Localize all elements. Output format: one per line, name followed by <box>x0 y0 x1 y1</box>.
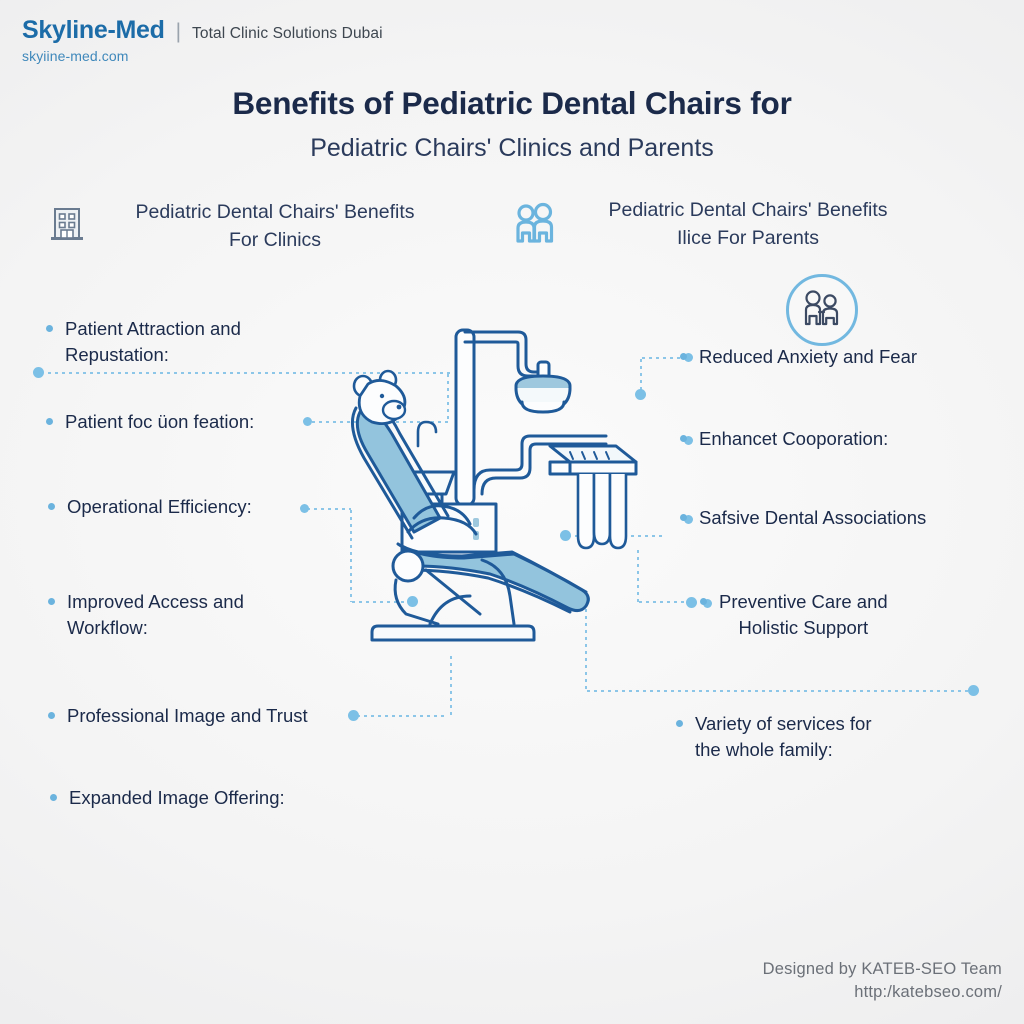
bullet-dot-icon <box>46 325 53 332</box>
page-subtitle: Pediatric Chairs' Clinics and Parents <box>0 134 1024 163</box>
brand-name: Skyline-Med <box>22 16 165 45</box>
clinics-heading-line1: Pediatric Dental Chairs' Benefits <box>135 201 414 223</box>
footer-designer: Designed by KATEB-SEO Team <box>763 960 1002 979</box>
connector-node <box>348 710 359 721</box>
list-item-label: Safsive Dental Associations <box>699 505 926 531</box>
bullet-dot-icon <box>700 598 707 605</box>
list-item-label: Preventive Care and Holistic Support <box>719 589 888 641</box>
bullet-dot-icon <box>50 794 57 801</box>
building-icon <box>48 203 86 248</box>
connector-node <box>300 504 309 513</box>
list-item-line1: Patient Attraction and <box>65 318 241 339</box>
list-item-label: Patient foc üon feation: <box>65 409 254 435</box>
connector-node <box>33 367 44 378</box>
list-item-line2: the whole family: <box>695 739 833 760</box>
list-item[interactable]: Variety of services for the whole family… <box>676 711 872 763</box>
list-item[interactable]: Reduced Anxiety and Fear <box>680 344 917 370</box>
bullet-dot-icon <box>676 720 683 727</box>
list-item[interactable]: Improved Access and Workflow: <box>48 589 244 641</box>
brand-tagline: Total Clinic Solutions Dubai <box>192 25 383 43</box>
list-item-label: Improved Access and Workflow: <box>67 589 244 641</box>
bullet-dot-icon <box>48 598 55 605</box>
brand-header: Skyline-Med | Total Clinic Solutions Dub… <box>22 16 383 64</box>
list-item-label: Professional Image and Trust <box>67 703 308 729</box>
clinics-heading-line2: For Clinics <box>229 229 321 251</box>
list-item[interactable]: Patient foc üon feation: <box>46 409 254 435</box>
footer-url[interactable]: http:/katebseo.com/ <box>763 983 1002 1002</box>
list-item-line1: Improved Access and <box>67 591 244 612</box>
list-item[interactable]: Expanded Image Offering: <box>50 785 285 811</box>
bullet-dot-icon <box>48 503 55 510</box>
connector-node <box>968 685 979 696</box>
list-item-line1: Preventive Care and <box>719 591 888 612</box>
list-item[interactable]: Enhancet Cooporation: <box>680 426 888 452</box>
list-item-line2: Workflow: <box>67 617 148 638</box>
connector-line <box>585 690 972 692</box>
footer-credit: Designed by KATEB-SEO Team http:/katebse… <box>763 960 1002 1002</box>
brand-url[interactable]: skyiine-med.com <box>22 48 383 64</box>
page-title: Benefits of Pediatric Dental Chairs for <box>0 85 1024 122</box>
brand-divider: | <box>176 20 181 44</box>
brand-row: Skyline-Med | Total Clinic Solutions Dub… <box>22 16 383 45</box>
section-header-parents-text: Pediatric Dental Chairs' Benefits Ilice … <box>574 196 922 252</box>
parents-heading-line2: Ilice For Parents <box>677 227 819 249</box>
connector-line <box>450 654 452 716</box>
list-item-line1: Variety of services for <box>695 713 872 734</box>
connector-node <box>303 417 312 426</box>
bullet-dot-icon <box>46 418 53 425</box>
list-item-label: Reduced Anxiety and Fear <box>699 344 917 370</box>
list-item-label: Operational Efficiency: <box>67 494 252 520</box>
bullet-dot-icon <box>680 514 687 521</box>
parent-child-badge <box>786 274 858 346</box>
infographic-canvas: Skyline-Med | Total Clinic Solutions Dub… <box>0 0 1024 1024</box>
family-icon <box>512 202 558 249</box>
list-item-line2: Repustation: <box>65 344 169 365</box>
list-item[interactable]: Safsive Dental Associations <box>680 505 926 531</box>
list-item-label: Patient Attraction and Repustation: <box>65 316 241 368</box>
bullet-dot-icon <box>680 353 687 360</box>
section-header-clinics: Pediatric Dental Chairs' Benefits For Cl… <box>48 198 448 254</box>
bullet-dot-icon <box>48 712 55 719</box>
connector-line <box>355 715 447 717</box>
list-item-line2: Holistic Support <box>739 617 869 638</box>
list-item[interactable]: Professional Image and Trust <box>48 703 308 729</box>
parents-heading-line1: Pediatric Dental Chairs' Benefits <box>608 199 887 221</box>
dental-chair-illustration <box>330 318 690 663</box>
list-item[interactable]: Patient Attraction and Repustation: <box>46 316 241 368</box>
list-item[interactable]: Preventive Care and Holistic Support <box>700 589 888 641</box>
section-header-parents: Pediatric Dental Chairs' Benefits Ilice … <box>512 196 922 252</box>
list-item-label: Variety of services for the whole family… <box>695 711 872 763</box>
parent-child-icon <box>800 288 844 333</box>
bullet-dot-icon <box>680 435 687 442</box>
list-item-label: Expanded Image Offering: <box>69 785 285 811</box>
list-item-label: Enhancet Cooporation: <box>699 426 888 452</box>
section-header-clinics-text: Pediatric Dental Chairs' Benefits For Cl… <box>102 198 448 254</box>
list-item[interactable]: Operational Efficiency: <box>48 494 252 520</box>
